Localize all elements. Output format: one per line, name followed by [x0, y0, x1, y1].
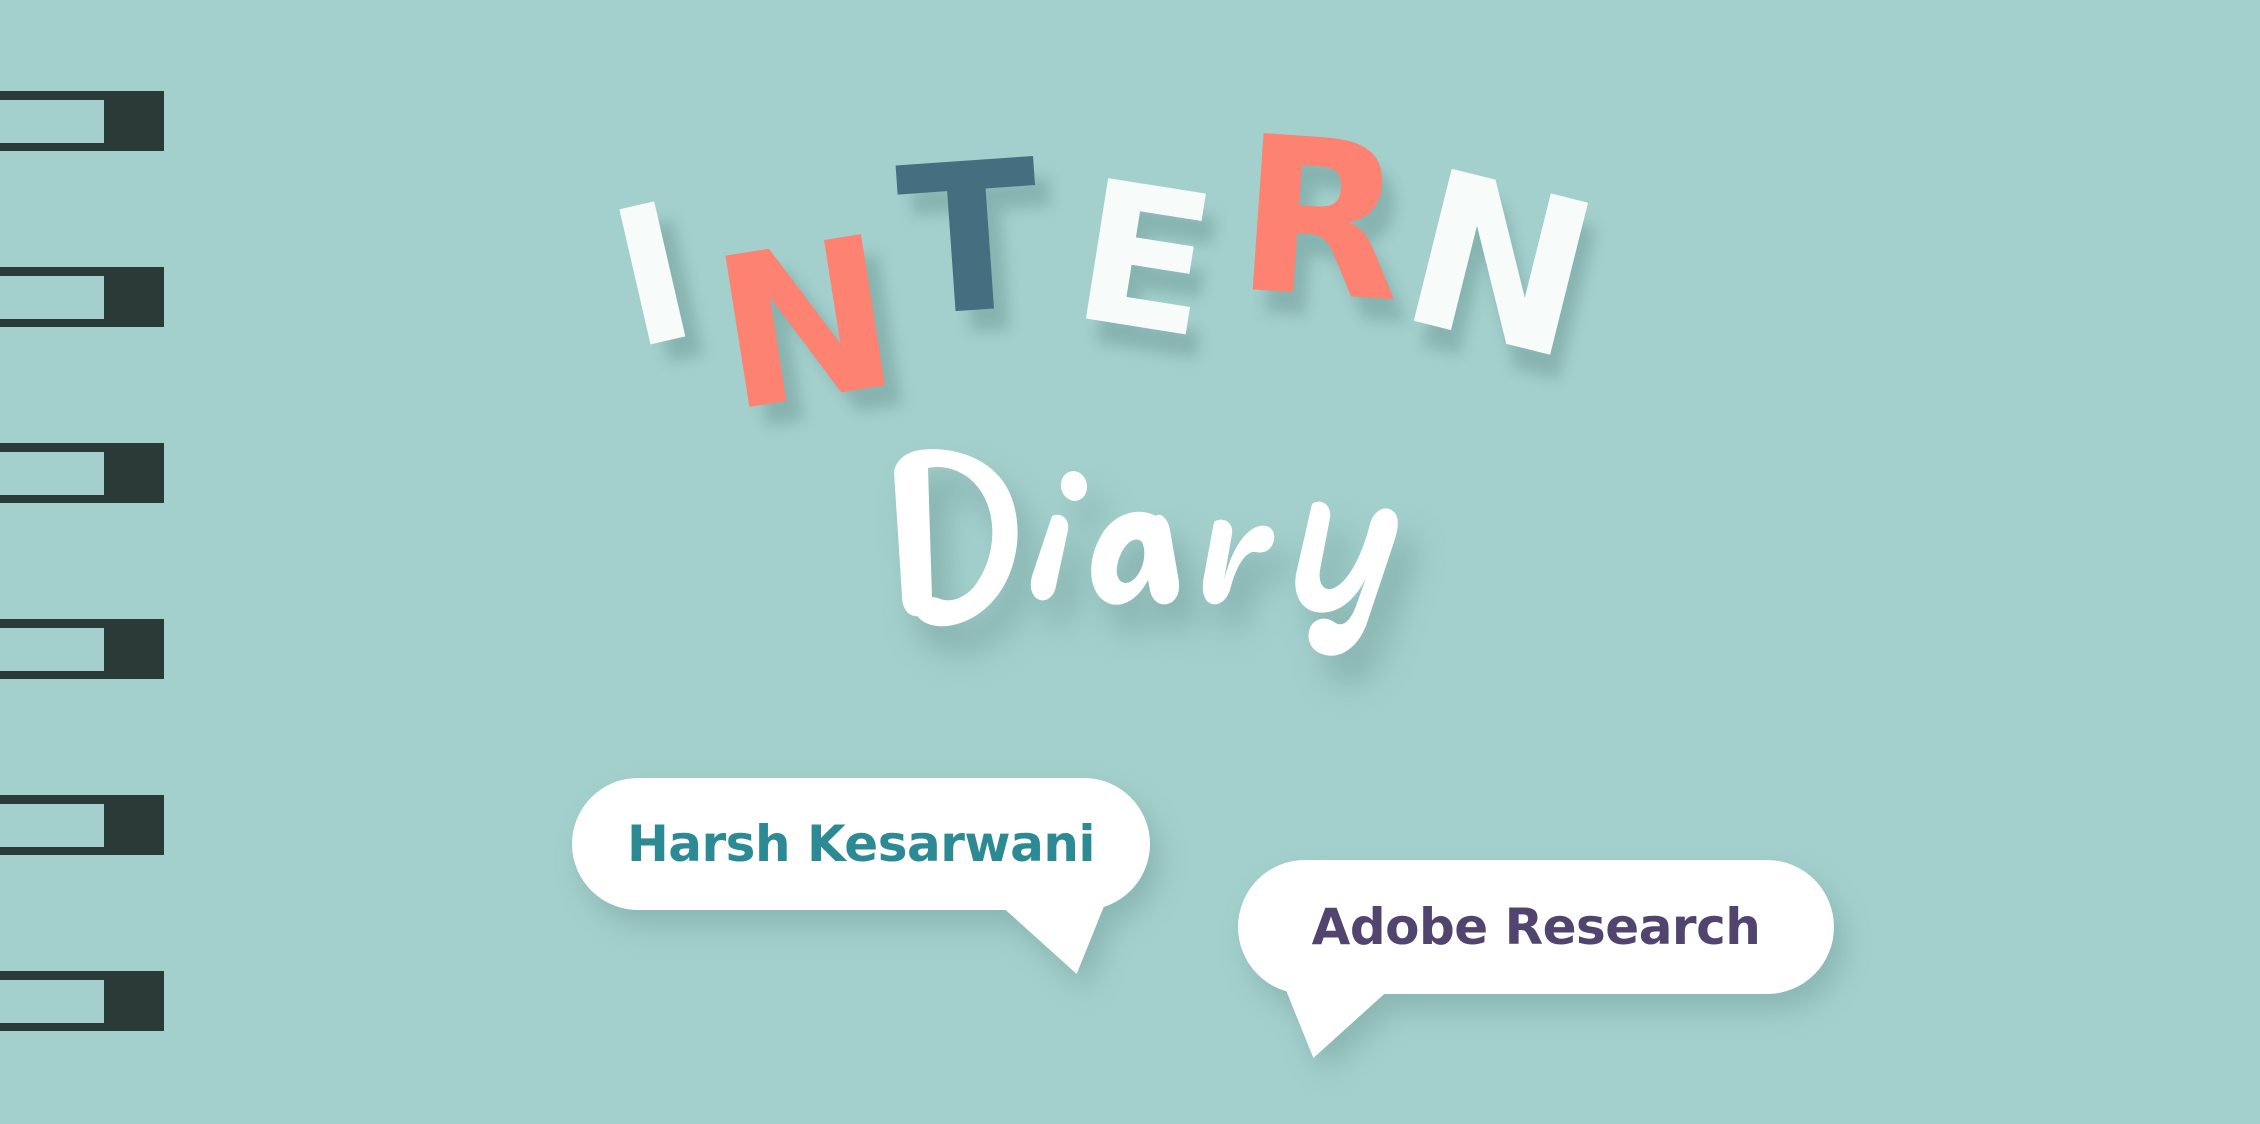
- speech-bubble-org-body[interactable]: Adobe Research: [1238, 860, 1834, 994]
- title-letter-i: I: [598, 176, 710, 377]
- speech-bubble-name-label: Harsh Kesarwani: [627, 815, 1095, 873]
- title-letter-e: E: [1064, 153, 1226, 366]
- binding-ring: [0, 443, 164, 503]
- speech-bubble-name[interactable]: Harsh Kesarwani: [572, 778, 1150, 910]
- binding-ring: [0, 971, 164, 1031]
- binding-ring-hole: [0, 980, 104, 1023]
- diary-glyphs: [894, 449, 1398, 656]
- title-letter-r: R: [1231, 106, 1411, 332]
- title-intern: I N T E R N: [600, 120, 1700, 460]
- speech-bubble-name-tail: [947, 888, 1112, 974]
- binding-ring-hole: [0, 276, 104, 319]
- title-diary-script: [880, 420, 1460, 660]
- binding-ring: [0, 91, 164, 151]
- speech-bubble-org[interactable]: Adobe Research: [1238, 860, 1834, 994]
- title-letter-t: T: [893, 133, 1047, 347]
- binding-ring: [0, 619, 164, 679]
- binding-ring-hole: [0, 804, 104, 847]
- binding-ring-hole: [0, 452, 104, 495]
- binding-ring-hole: [0, 628, 104, 671]
- title-letter-n2: N: [1387, 139, 1614, 391]
- speech-bubble-org-tail: [1279, 972, 1444, 1058]
- binding-ring: [0, 795, 164, 855]
- speech-bubble-org-label: Adobe Research: [1312, 898, 1761, 956]
- slide-canvas: I N T E R N Harsh: [0, 0, 2260, 1124]
- binding-ring-hole: [0, 100, 104, 143]
- speech-bubble-name-body[interactable]: Harsh Kesarwani: [572, 778, 1150, 910]
- title-letter-n1: N: [703, 208, 909, 443]
- binding-ring: [0, 267, 164, 327]
